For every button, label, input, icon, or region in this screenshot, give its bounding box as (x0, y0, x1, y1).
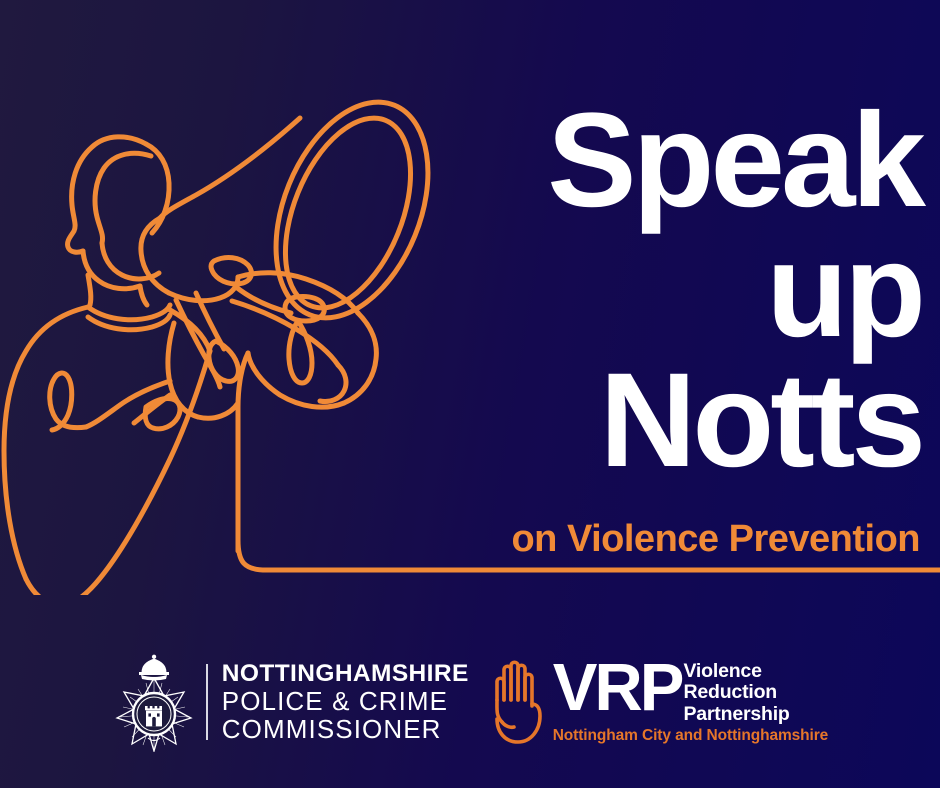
vrp-word-2: Reduction (683, 682, 789, 703)
police-line-2: POLICE & CRIME (222, 687, 469, 715)
headline-line-1: Speak (402, 96, 922, 226)
page-title: Speak up Notts (402, 96, 922, 486)
megaphone-line-art (0, 55, 470, 595)
logo-divider (206, 664, 208, 740)
vrp-fullname: Violence Reduction Partnership (683, 659, 789, 724)
vrp-word-1: Violence (683, 661, 789, 682)
police-crime-commissioner-logo: NOTTINGHAMSHIRE POLICE & CRIME COMMISSIO… (112, 652, 469, 752)
partner-logo-band: NOTTINGHAMSHIRE POLICE & CRIME COMMISSIO… (0, 642, 940, 762)
vrp-word-3: Partnership (683, 704, 789, 725)
accent-rule (230, 540, 940, 580)
vrp-strapline: Nottingham City and Nottinghamshire (553, 727, 829, 745)
police-logo-wordmark: NOTTINGHAMSHIRE POLICE & CRIME COMMISSIO… (222, 661, 469, 744)
vrp-mark: VRP (553, 659, 682, 717)
police-crest-icon (112, 652, 196, 752)
police-line-1: NOTTINGHAMSHIRE (222, 661, 469, 687)
raised-hand-icon (489, 656, 549, 748)
poster-canvas: Speak up Notts on Violence Prevention (0, 0, 940, 788)
vrp-logo: VRP Violence Reduction Partnership Notti… (489, 656, 829, 748)
vrp-wordmark: VRP Violence Reduction Partnership Notti… (553, 659, 829, 744)
headline-line-3: Notts (402, 356, 922, 486)
headline-line-2: up (402, 226, 922, 356)
police-line-3: COMMISSIONER (222, 715, 469, 743)
